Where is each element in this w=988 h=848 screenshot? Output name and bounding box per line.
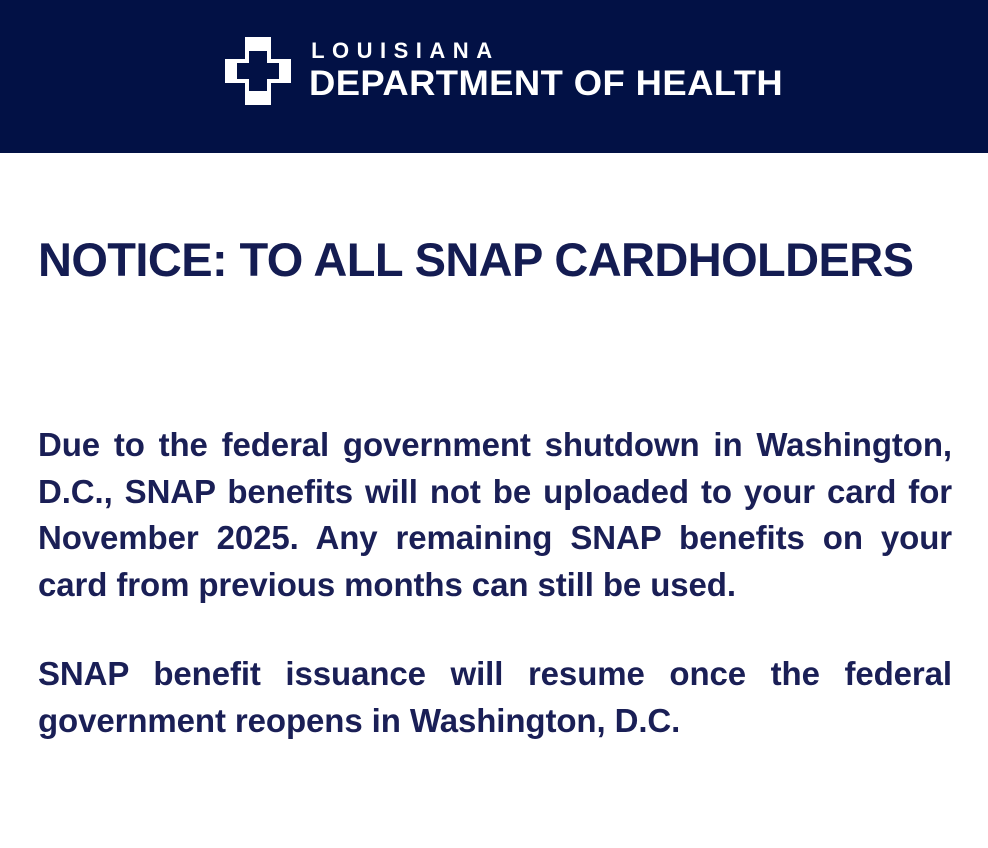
page-title: NOTICE: TO ALL SNAP CARDHOLDERS	[38, 153, 952, 284]
notice-page: LOUISIANA DEPARTMENT OF HEALTH NOTICE: T…	[0, 0, 988, 848]
notice-paragraph-1: Due to the federal government shutdown i…	[38, 422, 952, 608]
notice-paragraph-2: SNAP benefit issuance will resume once t…	[38, 651, 952, 744]
organization-name-line1: LOUISIANA	[311, 40, 765, 62]
header-band: LOUISIANA DEPARTMENT OF HEALTH	[0, 0, 988, 153]
logo-lockup: LOUISIANA DEPARTMENT OF HEALTH	[223, 35, 765, 107]
notice-body: Due to the federal government shutdown i…	[38, 422, 952, 744]
notice-content: NOTICE: TO ALL SNAP CARDHOLDERS Due to t…	[38, 153, 952, 744]
organization-wordmark: LOUISIANA DEPARTMENT OF HEALTH	[309, 40, 765, 101]
organization-name-line2: DEPARTMENT OF HEALTH	[309, 66, 783, 101]
offset-cross-health-logo-icon	[223, 35, 293, 107]
